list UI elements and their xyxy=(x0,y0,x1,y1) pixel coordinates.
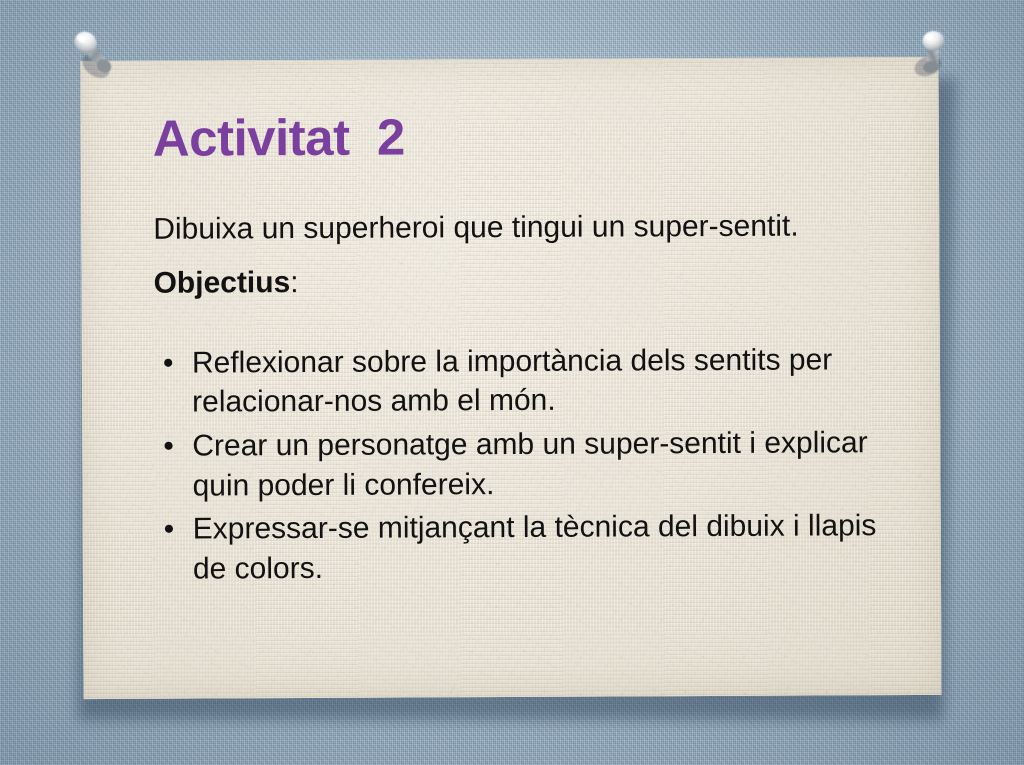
bullet-icon: • xyxy=(155,510,193,550)
objectives-heading: Objectius: xyxy=(153,260,911,304)
list-item: • Reflexionar sobre la importància dels … xyxy=(154,340,912,423)
list-item-text: Expressar-se mitjançant la tècnica del d… xyxy=(193,506,905,589)
presentation-slide: Activitat 2 Dibuixa un superheroi que ti… xyxy=(0,0,1024,765)
slide-title: Activitat 2 xyxy=(153,109,911,164)
slide-content: Activitat 2 Dibuixa un superheroi que ti… xyxy=(153,109,913,593)
objectives-label: Objectius xyxy=(153,266,290,300)
list-item: • Expressar-se mitjançant la tècnica del… xyxy=(155,506,913,589)
objectives-list: • Reflexionar sobre la importància dels … xyxy=(154,340,913,589)
list-item-text: Crear un personatge amb un super-sentit … xyxy=(192,423,904,506)
bullet-icon: • xyxy=(154,427,192,467)
objectives-colon: : xyxy=(290,266,299,299)
pinned-paper-sheet: Activitat 2 Dibuixa un superheroi que ti… xyxy=(80,57,941,699)
list-item: • Crear un personatge amb un super-senti… xyxy=(154,423,912,506)
list-item-text: Reflexionar sobre la importància dels se… xyxy=(192,340,904,423)
bullet-icon: • xyxy=(154,343,192,383)
activity-instruction: Dibuixa un superheroi que tingui un supe… xyxy=(153,207,813,250)
